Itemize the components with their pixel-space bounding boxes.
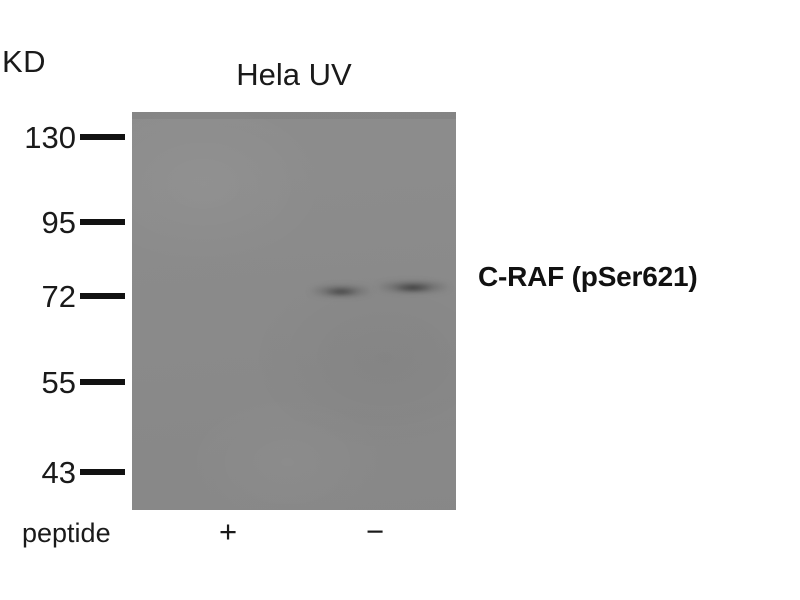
mw-marker-95: 95 <box>0 205 128 239</box>
mw-marker-label: 72 <box>42 281 76 312</box>
mw-marker-130: 130 <box>0 120 128 154</box>
target-protein-label: C-RAF (pSer621) <box>478 261 697 293</box>
membrane-texture <box>132 112 456 510</box>
mw-tick-icon <box>80 219 125 225</box>
mw-marker-43: 43 <box>0 455 128 489</box>
protein-band-lane-2-core <box>394 285 432 291</box>
mw-marker-55: 55 <box>0 365 128 399</box>
mw-marker-label: 130 <box>24 122 76 153</box>
peptide-row-label: peptide <box>22 518 111 549</box>
blot-membrane <box>132 112 456 510</box>
lane-2-peptide-sign: − <box>355 514 395 550</box>
lane-1-peptide-sign: + <box>208 514 248 550</box>
mw-tick-icon <box>80 134 125 140</box>
protein-band-lane-1-core <box>324 289 358 295</box>
lane-title: Hela UV <box>132 57 456 93</box>
mw-tick-icon <box>80 379 125 385</box>
mw-marker-label: 55 <box>42 367 76 398</box>
mw-tick-icon <box>80 469 125 475</box>
mw-marker-72: 72 <box>0 279 128 313</box>
mw-tick-icon <box>80 293 125 299</box>
western-blot-figure: KD Hela UV 130 95 72 55 43 C-RAF <box>0 0 800 600</box>
kd-axis-caption: KD <box>2 44 46 80</box>
mw-marker-label: 43 <box>42 457 76 488</box>
mw-marker-label: 95 <box>42 207 76 238</box>
